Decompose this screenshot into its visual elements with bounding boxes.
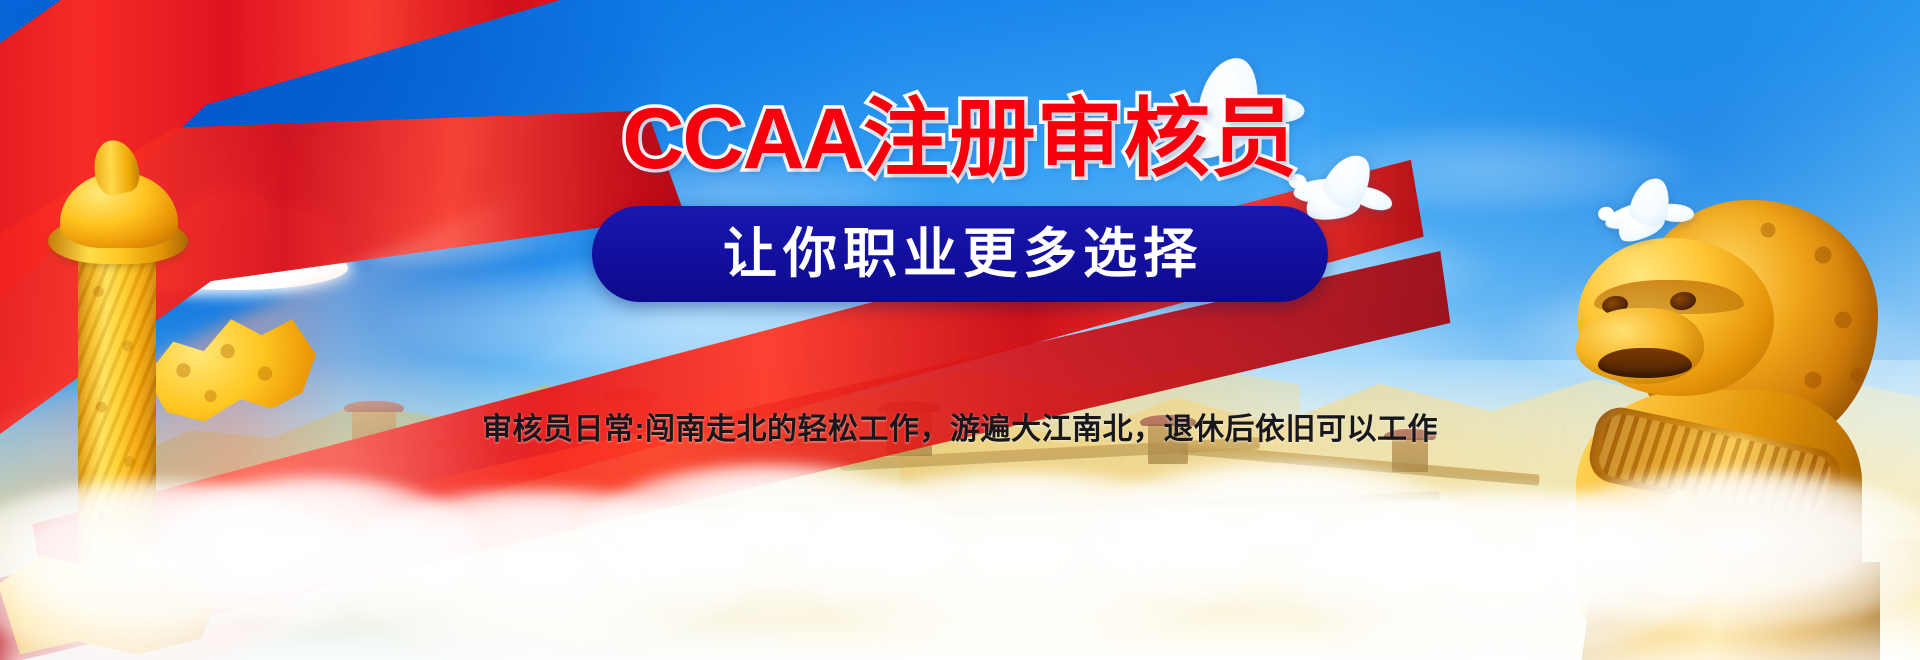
headline-latin: CCAA	[622, 91, 862, 187]
lion-plinth	[1580, 562, 1880, 660]
banner-subline: 审核员日常:闯南走北的轻松工作，游遍大江南北，退休后依旧可以工作	[0, 404, 1920, 448]
banner-slogan-pill[interactable]: 让你职业更多选择	[592, 206, 1328, 302]
lion-mouth	[1598, 348, 1692, 378]
ccaa-promo-banner: CCAA注册审核员 让你职业更多选择 审核员日常:闯南走北的轻松工作，游遍大江南…	[0, 0, 1920, 660]
huabiao-column	[8, 140, 308, 580]
headline-cjk: 注册审核员	[863, 91, 1298, 187]
guardian-lion-statue	[1554, 176, 1884, 616]
banner-headline: CCAA注册审核员	[0, 96, 1920, 182]
slogan-text: 让你职业更多选择	[717, 227, 1203, 281]
